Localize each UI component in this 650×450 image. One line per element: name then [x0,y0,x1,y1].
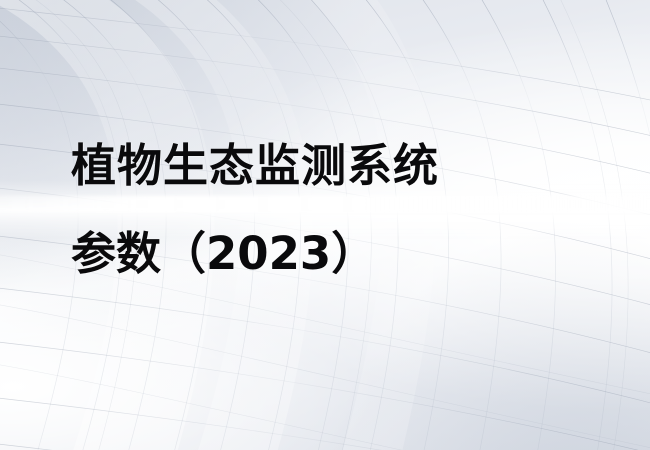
title-line-1: 植物生态监测系统 [71,122,591,210]
slide-title: 植物生态监测系统 参数（2023） [71,122,591,298]
title-slide: 植物生态监测系统 参数（2023） [0,0,650,450]
title-line-2: 参数（2023） [71,210,591,298]
